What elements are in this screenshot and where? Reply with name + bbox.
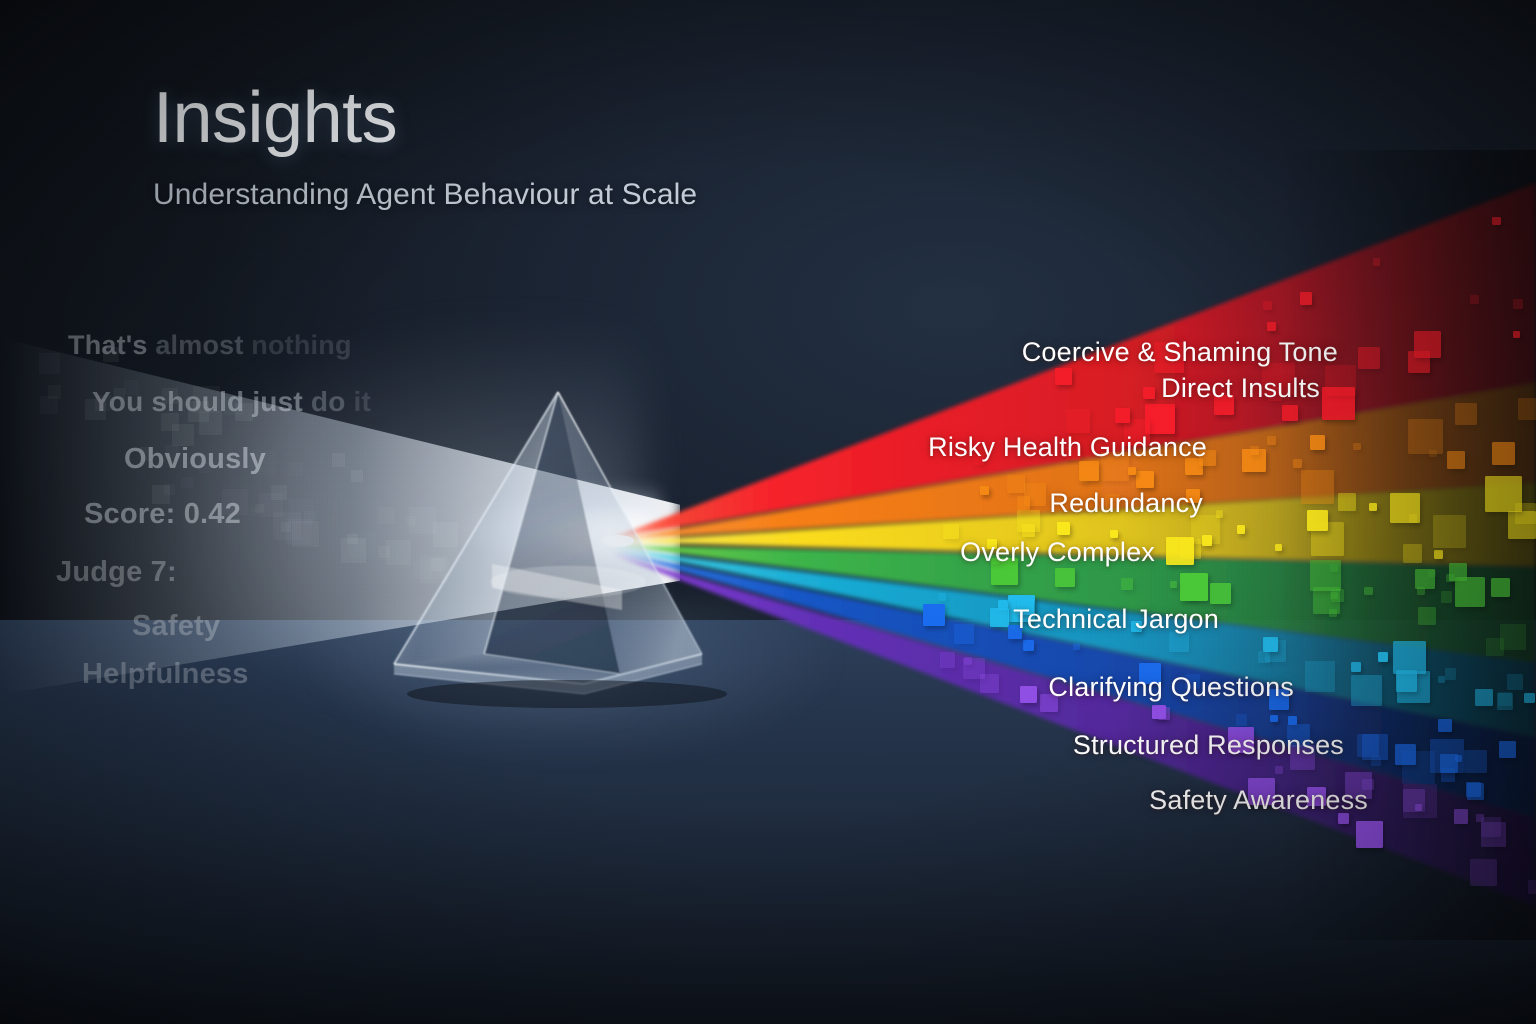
spectrum-pixel xyxy=(1237,525,1245,533)
beam-pixel xyxy=(332,453,346,467)
spectrum-pixel xyxy=(1055,368,1072,385)
spectrum-pixel xyxy=(1390,493,1420,523)
page-subtitle: Understanding Agent Behaviour at Scale xyxy=(153,178,697,212)
spectrum-label: Safety Awareness xyxy=(1149,785,1368,816)
insights-slide: InsightsUnderstanding Agent Behaviour at… xyxy=(0,0,1536,1024)
spectrum-pixel xyxy=(1329,609,1337,617)
input-phrase: Obviously xyxy=(124,443,266,476)
prism-contact-shadow xyxy=(407,680,727,708)
beam-pixel xyxy=(289,499,314,524)
spectrum-pixel xyxy=(1250,446,1259,455)
spectrum-pixel xyxy=(1481,817,1501,837)
spectrum-pixel xyxy=(1263,637,1278,652)
spectrum-pixel xyxy=(1438,719,1452,733)
spectrum-pixel xyxy=(1351,662,1361,672)
spectrum-pixel xyxy=(1364,587,1373,596)
beam-pixel xyxy=(40,396,57,413)
spectrum-label: Structured Responses xyxy=(1073,730,1344,761)
spectrum-pixel xyxy=(1507,674,1523,690)
slide-header: InsightsUnderstanding Agent Behaviour at… xyxy=(153,82,697,212)
spectrum-pixel xyxy=(1293,459,1302,468)
spectrum-pixel xyxy=(1305,661,1336,692)
spectrum-pixel xyxy=(1202,535,1212,545)
spectrum-label: Coercive & Shaming Tone xyxy=(1022,337,1338,368)
spectrum-pixel xyxy=(980,486,989,495)
spectrum-pixel xyxy=(1455,403,1477,425)
spectrum-pixel xyxy=(1357,734,1380,757)
beam-pixel xyxy=(48,385,62,399)
spectrum-pixel xyxy=(1022,524,1035,537)
spectrum-pixel xyxy=(1055,568,1074,587)
spectrum-pixel xyxy=(1475,689,1492,706)
beam-pixel xyxy=(289,462,303,476)
spectrum-pixel xyxy=(1513,331,1520,338)
spectrum-label: Overly Complex xyxy=(960,537,1155,568)
spectrum-pixel xyxy=(1441,591,1452,602)
prism-inner-glow xyxy=(490,566,646,598)
spectrum-pixel xyxy=(1307,510,1328,531)
spectrum-pixel xyxy=(1267,436,1276,445)
spectrum-pixel xyxy=(1403,784,1437,818)
spectrum-pixel xyxy=(1491,578,1510,597)
spectrum-pixel xyxy=(1403,544,1422,563)
beam-pixel xyxy=(181,477,192,488)
spectrum-pixel xyxy=(1434,550,1443,559)
spectrum-label: Redundancy xyxy=(1049,488,1203,519)
spectrum-pixel xyxy=(1136,471,1154,489)
spectrum-pixel xyxy=(1429,450,1437,458)
spectrum-pixel xyxy=(1445,668,1456,679)
spectrum-pixel xyxy=(1414,331,1441,358)
spectrum-pixel xyxy=(1263,301,1272,310)
spectrum-pixel xyxy=(1396,670,1418,692)
spectrum-pixel xyxy=(1393,641,1426,674)
spectrum-pixel xyxy=(1492,217,1500,225)
input-phrase: Score: 0.42 xyxy=(84,498,241,531)
spectrum-pixel xyxy=(1300,292,1312,304)
beam-pixel xyxy=(347,534,357,544)
spectrum-pixel xyxy=(1020,686,1038,704)
beam-pixel xyxy=(351,470,363,482)
page-title: Insights xyxy=(153,82,697,154)
spectrum-pixel xyxy=(1169,632,1189,652)
spectrum-pixel xyxy=(1369,503,1377,511)
spectrum-label: Technical Jargon xyxy=(1013,604,1219,635)
input-phrase: Safety xyxy=(132,610,220,643)
spectrum-pixel xyxy=(1470,295,1479,304)
spectrum-pixel xyxy=(1270,715,1278,723)
spectrum-pixel xyxy=(1395,744,1416,765)
spectrum-pixel xyxy=(1417,587,1425,595)
spectrum-pixel xyxy=(1325,365,1356,396)
spectrum-pixel xyxy=(1498,692,1512,706)
spectrum-pixel xyxy=(1180,573,1208,601)
spectrum-pixel xyxy=(1330,564,1338,572)
spectrum-pixel xyxy=(1499,741,1516,758)
spectrum-pixel xyxy=(1500,624,1526,650)
spectrum-pixel xyxy=(940,652,955,667)
spectrum-pixel xyxy=(1353,443,1361,451)
spectrum-pixel xyxy=(938,593,946,601)
spectrum-pixel xyxy=(1073,643,1080,650)
spectrum-pixel xyxy=(1464,750,1487,773)
spectrum-pixel xyxy=(923,604,945,626)
glass-prism xyxy=(372,382,742,692)
spectrum-pixel xyxy=(1017,496,1031,510)
spectrum-pixel xyxy=(1492,442,1515,465)
spectrum-pixel xyxy=(1438,676,1445,683)
spectrum-pixel xyxy=(1066,409,1090,433)
spectrum-pixel xyxy=(1508,511,1536,539)
spectrum-pixel xyxy=(1433,515,1466,548)
spectrum-pixel xyxy=(1446,574,1454,582)
spectrum-pixel xyxy=(1023,640,1034,651)
spectrum-pixel xyxy=(1356,821,1384,849)
spectrum-pixel xyxy=(1170,581,1178,589)
spectrum-pixel xyxy=(1079,461,1099,481)
spectrum-pixel xyxy=(943,524,959,540)
spectrum-pixel xyxy=(1330,592,1337,599)
spectrum-pixel xyxy=(1485,476,1522,513)
spectrum-pixel xyxy=(1351,675,1382,706)
spectrum-pixel xyxy=(1007,475,1025,493)
spectrum-pixel xyxy=(1466,782,1481,797)
beam-pixel xyxy=(164,484,175,495)
beam-pixel xyxy=(259,493,282,516)
spectrum-pixel xyxy=(1408,419,1442,453)
spectrum-pixel xyxy=(1447,451,1465,469)
spectrum-pixel xyxy=(1524,693,1534,703)
spectrum-pixel xyxy=(1115,408,1129,422)
spectrum-pixel xyxy=(954,624,974,644)
spectrum-pixel xyxy=(1128,467,1136,475)
spectrum-pixel xyxy=(1528,880,1536,894)
spectrum-pixel xyxy=(1267,322,1276,331)
spectrum-pixel xyxy=(1415,804,1422,811)
spectrum-pixel xyxy=(1430,739,1464,773)
spectrum-pixel xyxy=(1418,607,1436,625)
spectrum-pixel xyxy=(1470,859,1497,886)
spectrum-pixel xyxy=(1518,398,1536,420)
spectrum-pixel xyxy=(1358,347,1380,369)
spectrum-pixel xyxy=(1236,714,1248,726)
spectrum-pixel xyxy=(1455,577,1485,607)
beam-pixel xyxy=(39,353,61,375)
spectrum-pixel xyxy=(1143,387,1155,399)
spectrum-pixel xyxy=(1415,569,1435,589)
spectrum-pixel xyxy=(1057,522,1070,535)
spectrum-pixel xyxy=(1275,544,1282,551)
spectrum-pixel xyxy=(1121,578,1133,590)
spectrum-pixel xyxy=(1301,470,1335,504)
spectrum-pixel xyxy=(1338,493,1356,511)
input-phrase: You should just do it xyxy=(92,386,371,418)
input-phrase: Judge 7: xyxy=(56,556,177,589)
spectrum-pixel xyxy=(1210,583,1231,604)
spectrum-pixel xyxy=(990,608,1009,627)
spectrum-pixel xyxy=(1513,299,1524,310)
spectrum-pixel xyxy=(1373,258,1380,265)
spectrum-pixel xyxy=(1275,766,1283,774)
spectrum-label: Risky Health Guidance xyxy=(928,432,1207,463)
spectrum-pixel xyxy=(1454,809,1468,823)
spectrum-pixel xyxy=(1282,405,1298,421)
spectrum-pixel xyxy=(1158,707,1170,719)
input-phrase: That's almost nothing xyxy=(68,330,352,361)
spectrum-pixel xyxy=(1310,435,1325,450)
spectrum-label: Clarifying Questions xyxy=(1048,672,1294,703)
spectrum-pixel xyxy=(1166,537,1194,565)
spectrum-pixel xyxy=(1378,652,1388,662)
spectrum-pixel xyxy=(1258,651,1270,663)
input-phrase: Helpfulness xyxy=(82,658,249,691)
spectrum-pixel xyxy=(964,657,972,665)
spectrum-label: Direct Insults xyxy=(1161,373,1320,404)
